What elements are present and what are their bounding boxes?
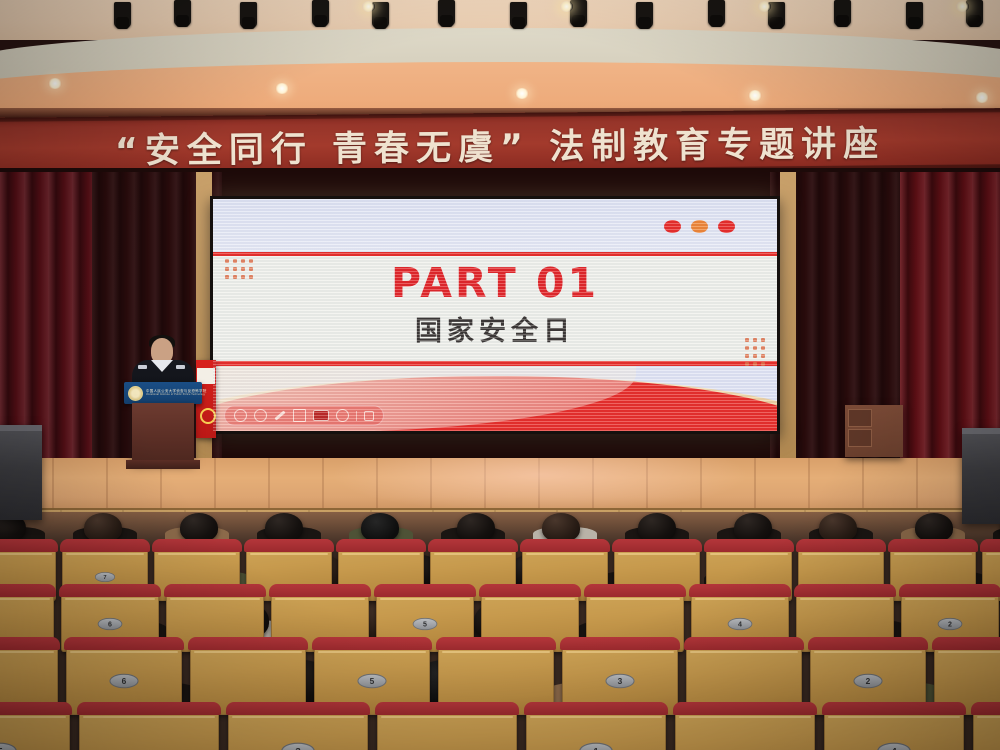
seat-number-plate: 2 [938, 618, 963, 630]
seat-number-plate: 1 [579, 742, 613, 750]
decor-dot-1 [664, 220, 681, 233]
track-spotlight [834, 0, 851, 26]
audience-member-head [457, 513, 495, 542]
pa-speaker-right [962, 428, 1000, 524]
auditorium-seat[interactable] [377, 708, 517, 750]
podium-body [132, 403, 194, 463]
cabinet-shelf-lower [848, 429, 872, 447]
stage-light-glow [330, 458, 750, 514]
wall-strip-right [780, 172, 796, 472]
auditorium-seat[interactable]: 4 [824, 708, 964, 750]
audience-member-head [361, 513, 399, 542]
track-spotlight [240, 2, 257, 28]
recessed-downlight [48, 78, 62, 89]
seat-number-plate: 7 [95, 572, 115, 582]
track-spotlight [636, 2, 653, 28]
podium-nameplate: 中国人民公安大学侦查与反恐怖学院 Vocational Institute of… [124, 382, 202, 404]
pen-icon[interactable] [275, 410, 286, 420]
podium-name-en: Vocational Institute of Public Police Te… [146, 394, 207, 396]
prev-slide-icon[interactable] [234, 409, 247, 422]
recessed-downlight [515, 88, 529, 99]
auditorium-seat[interactable] [675, 708, 815, 750]
pa-speaker-left [0, 425, 42, 520]
shoulder-insignia-right [176, 365, 185, 369]
decor-dot [745, 354, 749, 358]
recessed-downlight [975, 92, 989, 103]
audience-member-head [180, 513, 218, 542]
audience-member-head [265, 513, 303, 542]
cursor-icon[interactable] [364, 411, 374, 421]
more-options-icon[interactable] [336, 409, 349, 422]
audience-seating: 7654265325314 [0, 512, 1000, 750]
led-screen[interactable]: PART 01 国家安全日 [210, 196, 780, 434]
slide-part-label: PART 01 [213, 259, 777, 307]
recessed-downlight [748, 90, 762, 101]
auditorium-seat[interactable]: 5 [0, 708, 70, 750]
audience-member-head [542, 513, 580, 542]
shoulder-insignia-left [138, 365, 147, 369]
track-spotlight [906, 2, 923, 28]
decor-dot-2 [691, 220, 708, 233]
pa-speaker-top [962, 428, 1000, 434]
decor-dot [753, 354, 757, 358]
slide-grid-icon[interactable] [293, 409, 306, 422]
seat-number-plate: 5 [413, 618, 438, 630]
auditorium-seat[interactable]: 1 [526, 708, 666, 750]
seat-number-plate: 2 [853, 673, 882, 688]
track-spotlight [438, 0, 455, 26]
audience-member-head [734, 513, 772, 542]
banner-seal-icon [200, 408, 216, 424]
seat-number-plate: 3 [281, 742, 315, 750]
decor-dot-3 [718, 220, 735, 233]
decor-dot [745, 362, 749, 366]
auditorium-seat[interactable] [79, 708, 219, 750]
spotlight-bulb [362, 1, 375, 12]
track-spotlight [114, 2, 131, 28]
audience-member-head [915, 513, 953, 542]
seat-number-plate: 6 [98, 618, 123, 630]
seat-number-plate: 4 [877, 742, 911, 750]
track-spotlight [174, 0, 191, 26]
track-spotlight [312, 0, 329, 26]
podium-base [126, 460, 200, 469]
institute-emblem-icon [128, 386, 143, 401]
slide-subtitle: 国家安全日 [213, 309, 777, 348]
decor-dot [753, 362, 757, 366]
seat-number-plate: 6 [109, 673, 138, 688]
spotlight-bulb [560, 1, 573, 12]
spotlight-bulb [758, 1, 771, 12]
seat-number-plate: 3 [605, 673, 634, 688]
blackout-icon[interactable] [313, 410, 329, 421]
recessed-downlight [275, 83, 289, 94]
seat-number-plate: 4 [728, 618, 753, 630]
track-spotlight [510, 2, 527, 28]
seat-number-plate: 5 [357, 673, 386, 688]
decor-dot [761, 354, 765, 358]
slide-decor-dots [664, 220, 735, 233]
auditorium-scene: “安全同行 青春无虞” 法制教育专题讲座 PART 01 国家安全日 [0, 0, 1000, 750]
track-spotlight [708, 0, 725, 26]
podium-caption: 中国人民公安大学侦查与反恐怖学院 Vocational Institute of… [146, 390, 207, 397]
seat-number-plate: 5 [0, 742, 17, 750]
audience-member-head [819, 513, 857, 542]
pa-speaker-top [0, 425, 42, 431]
decor-dot [761, 362, 765, 366]
auditorium-seat[interactable] [973, 708, 1000, 750]
banner-title: “安全同行 青春无虞” 法制教育专题讲座 [115, 115, 886, 173]
auditorium-seat[interactable]: 3 [228, 708, 368, 750]
next-slide-icon[interactable] [254, 409, 267, 422]
spotlight-bulb [956, 1, 969, 12]
audience-member-head [638, 513, 676, 542]
wooden-stage-cabinet [845, 405, 903, 457]
curtain-far-right [900, 172, 1000, 472]
presenter-toolbar[interactable] [224, 405, 384, 426]
presentation-slide[interactable]: PART 01 国家安全日 [213, 199, 777, 431]
audience-member-head [84, 513, 122, 542]
toolbar-divider [356, 411, 357, 421]
cabinet-shelf-upper [848, 409, 872, 427]
